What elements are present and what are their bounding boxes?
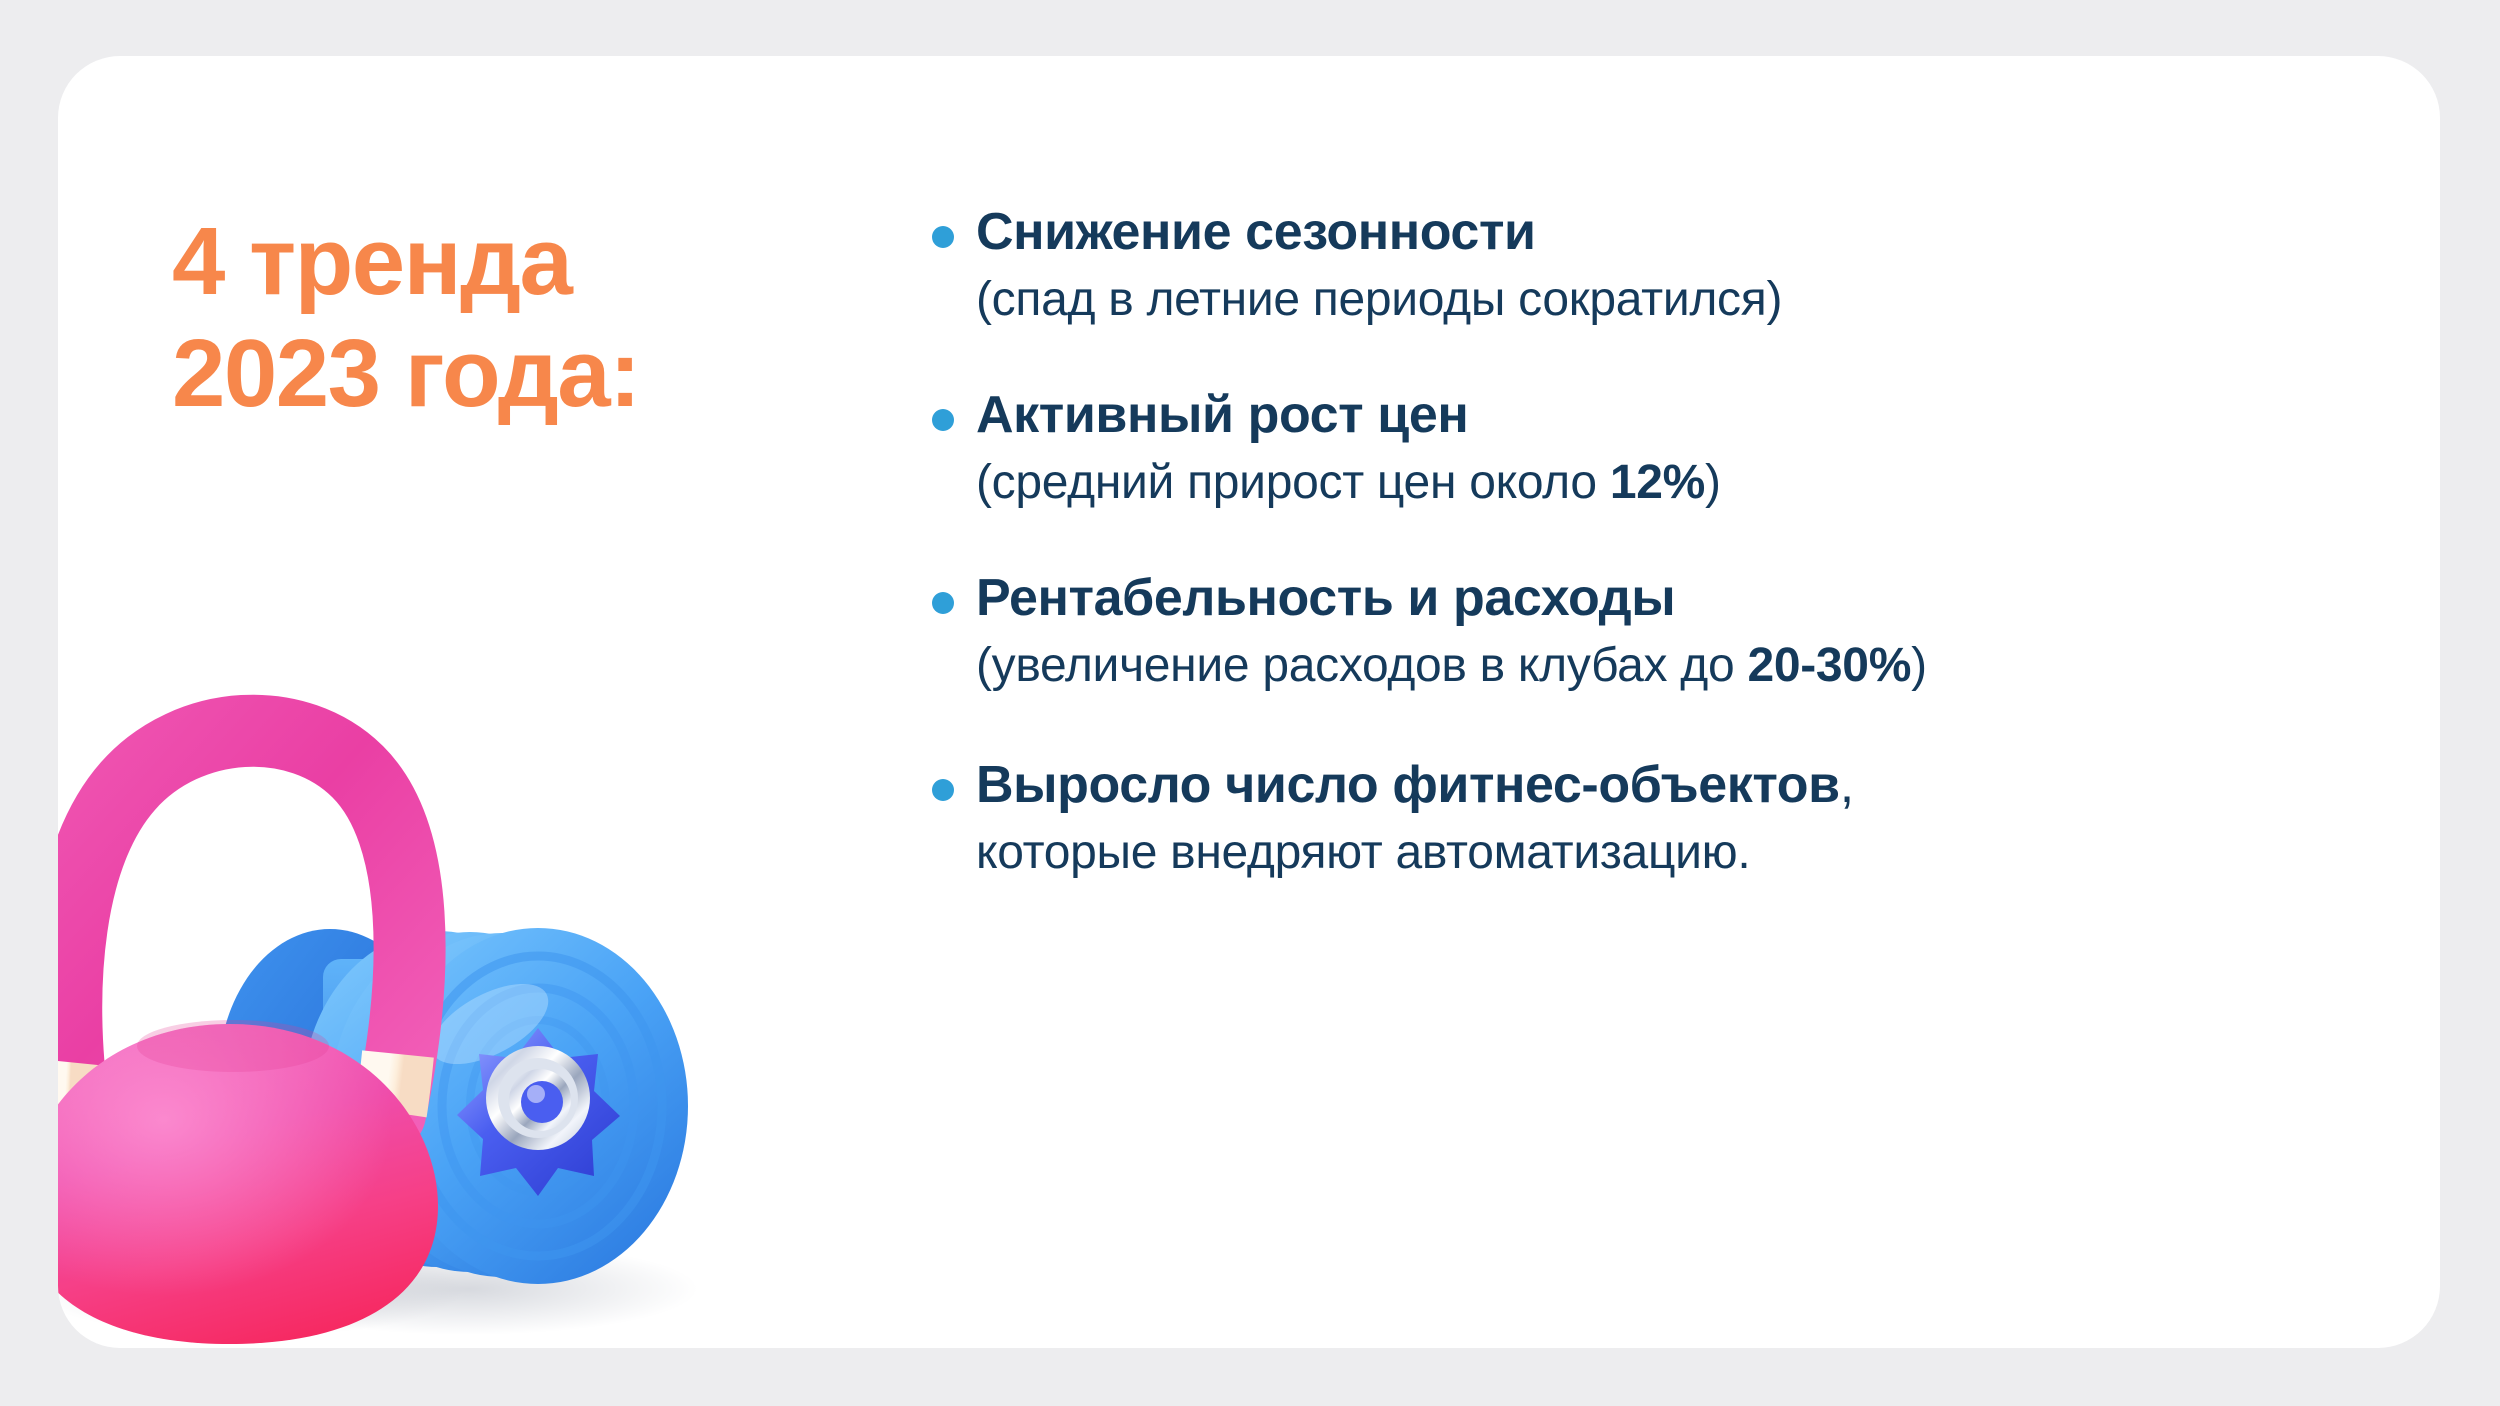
kettlebell-band-left — [67, 1062, 69, 1116]
content-card: 4 тренда 2023 года: — [58, 56, 2440, 1348]
bullet-heading-text: Снижение сезонности — [976, 203, 1536, 261]
bullet-sub-bold: 20-30% — [1747, 639, 1911, 692]
dumbbell-plate-far — [218, 929, 442, 1229]
bullet-sub-prefix: (средний прирост цен около — [976, 456, 1610, 509]
list-item: Активный рост цен (средний прирост цен о… — [930, 385, 2350, 512]
bullet-sub-suffix: ) — [1705, 456, 1721, 509]
nut-chrome-ring-outer — [486, 1046, 590, 1150]
bullet-heading-text: Активный рост цен — [976, 386, 1468, 444]
dumbbell-groove-outer — [414, 956, 662, 1256]
kettlebell-shadow — [58, 1241, 463, 1337]
kettlebell-band-right — [391, 1054, 398, 1112]
dumbbell-ring-2 — [330, 932, 610, 1272]
bullet-heading-tail: , — [1840, 756, 1854, 814]
bullet-dot-icon — [932, 779, 954, 801]
dumbbell-plate-highlight — [419, 967, 560, 1080]
bullet-dot-icon — [932, 592, 954, 614]
dumbbell — [218, 928, 688, 1284]
dumbbell-ring-1 — [302, 931, 574, 1267]
bullet-heading: Активный рост цен — [976, 385, 2350, 445]
bullet-sub-prefix: (увеличение расходов в клубах до — [976, 639, 1747, 692]
dumbbell-plate-near — [388, 928, 688, 1284]
bullet-sub-prefix: которые внедряют автоматизацию. — [976, 826, 1750, 879]
kettlebell-body — [58, 1024, 438, 1344]
nut-center-highlight — [527, 1085, 545, 1103]
bullet-sub-bold: 12% — [1610, 456, 1705, 509]
bullet-dot-icon — [932, 226, 954, 248]
kettlebell-neck-shade — [137, 1020, 329, 1072]
dumbbell-collar-nut — [457, 1028, 620, 1196]
bullet-heading: Снижение сезонности — [976, 202, 2350, 262]
bullet-heading-text: Выросло число фитнес-объектов — [976, 756, 1840, 814]
dumbbell-groove-mid — [442, 988, 634, 1224]
kettlebell-body-highlight — [58, 1024, 438, 1344]
list-item: Рентабельность и расходы (увеличение рас… — [930, 568, 2350, 695]
kettlebell-handle — [66, 731, 409, 1114]
bullet-subtext: (средний прирост цен около 12%) — [976, 455, 2350, 512]
dumbbell-bar — [323, 959, 553, 1199]
star-nut-body — [457, 1028, 620, 1196]
bullet-sub-suffix: ) — [1911, 639, 1927, 692]
bullet-subtext: которые внедряют автоматизацию. — [976, 825, 2350, 882]
dumbbell-shadow — [238, 1243, 698, 1335]
slide-canvas: 4 тренда 2023 года: — [0, 0, 2500, 1406]
bullet-sub-prefix: (спад в летние периоды сократился) — [976, 273, 1782, 326]
kettlebell-and-dumbbell-illustration — [58, 554, 798, 1348]
bullet-subtext: (спад в летние периоды сократился) — [976, 272, 2350, 329]
dumbbell-ring-3 — [359, 933, 645, 1277]
nut-center-cap — [521, 1081, 563, 1123]
list-item: Снижение сезонности (спад в летние перио… — [930, 202, 2350, 329]
trends-list: Снижение сезонности (спад в летние перио… — [930, 202, 2350, 882]
nut-chrome-ring-inner — [509, 1069, 571, 1131]
title-line-2: 2023 года: — [172, 318, 892, 430]
kettlebell — [58, 731, 438, 1344]
bullet-dot-icon — [932, 409, 954, 431]
bullet-heading: Выросло число фитнес-объектов, — [976, 755, 2350, 815]
nut-chrome-ring-mid — [498, 1058, 578, 1138]
bullet-heading-text: Рентабельность и расходы — [976, 569, 1675, 627]
dumbbell-groove-inner — [470, 1020, 606, 1192]
bullet-subtext: (увеличение расходов в клубах до 20-30%) — [976, 638, 2350, 695]
bullet-heading: Рентабельность и расходы — [976, 568, 2350, 628]
title-line-1: 4 тренда — [172, 206, 892, 318]
list-item: Выросло число фитнес-объектов, которые в… — [930, 755, 2350, 882]
page-title: 4 тренда 2023 года: — [172, 206, 892, 431]
